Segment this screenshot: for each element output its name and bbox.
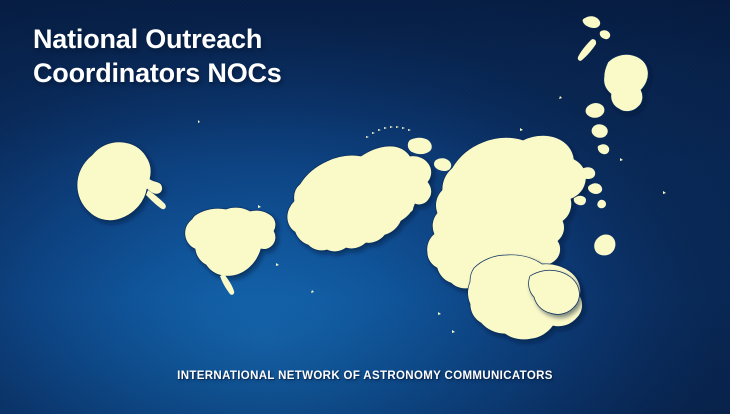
landmass-alaska (408, 138, 432, 154)
footer-tagline: INTERNATIONAL NETWORK OF ASTRONOMY COMMU… (0, 370, 730, 382)
landmass-south-america (185, 207, 276, 276)
landmass-north-america (287, 146, 432, 252)
landmass-antarctica (77, 142, 162, 221)
landmass-iceland (434, 158, 451, 171)
page-title-line-1: National Outreach (33, 22, 282, 56)
page-title: National Outreach Coordinators NOCs (33, 22, 282, 90)
landmass-south-america-cape (220, 274, 234, 295)
page-title-line-2: Coordinators NOCs (33, 56, 282, 90)
landmass-japan (586, 103, 610, 154)
landmass-greenland (604, 54, 648, 111)
banner-canvas: National Outreach Coordinators NOCs INTE… (0, 0, 730, 414)
landmass-ellesmere (578, 16, 610, 61)
landmass-madagascar (594, 235, 615, 256)
landmass-aleutian-arc (366, 126, 411, 138)
